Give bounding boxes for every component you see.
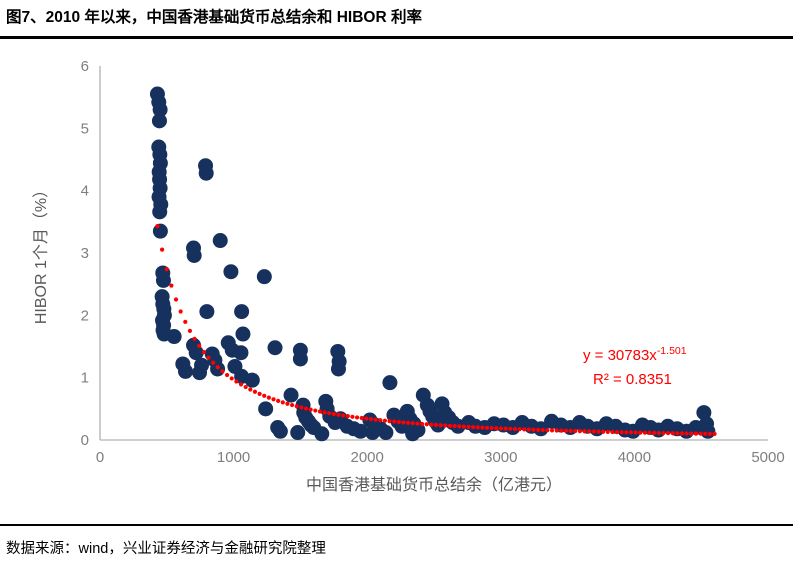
trendline-dot [267, 396, 271, 400]
x-tick-label: 3000 [484, 449, 517, 466]
trendline-dot [522, 427, 526, 431]
trendline-dot [341, 413, 345, 417]
scatter-point [227, 359, 242, 374]
trendline-dot [401, 420, 405, 424]
scatter-point [314, 426, 329, 441]
trendline-dot [188, 329, 192, 333]
trendline-dot [378, 418, 382, 422]
trendline-dot [387, 419, 391, 423]
trendline-dot [295, 404, 299, 408]
trendline-dot [531, 428, 535, 432]
trendline-dot [480, 425, 484, 429]
trendline-dot [234, 379, 238, 383]
trendline-dot [336, 413, 340, 417]
trendline-dot [239, 382, 243, 386]
scatter-point [284, 388, 299, 403]
scatter-point [235, 327, 250, 342]
trendline-dot [620, 430, 624, 434]
trendline-dot [647, 431, 651, 435]
scatter-point [331, 361, 346, 376]
trendline-dot [564, 429, 568, 433]
trendline-dot [466, 425, 470, 429]
trendline-dot [318, 409, 322, 413]
scatter-point [192, 365, 207, 380]
trendline-dot [499, 426, 503, 430]
trendline-dot [434, 423, 438, 427]
trendline-dot [712, 432, 716, 436]
trendline-dot [610, 430, 614, 434]
trendline-dot [290, 403, 294, 407]
scatter-point [167, 329, 182, 344]
trendline-dot [174, 297, 178, 301]
trendline-dot [559, 429, 563, 433]
scatter-point [257, 269, 272, 284]
trendline-dot [643, 431, 647, 435]
trendline-dot [657, 431, 661, 435]
y-tick-label: 3 [81, 245, 89, 262]
scatter-point [223, 264, 238, 279]
trendline-dot [517, 427, 521, 431]
x-tick-label: 0 [96, 449, 104, 466]
trendline-dot [550, 428, 554, 432]
y-tick-label: 5 [81, 120, 89, 137]
trendline-dot [262, 394, 266, 398]
trendline-dot [601, 430, 605, 434]
trendline-dot [606, 430, 610, 434]
scatter-point [152, 113, 167, 128]
scatter-point [245, 373, 260, 388]
trendline-dot [587, 429, 591, 433]
trendline-dot [197, 344, 201, 348]
y-tick-label: 2 [81, 307, 89, 324]
trendline-dot [634, 430, 638, 434]
scatter-point [234, 304, 249, 319]
trendline-equation: y = 30783x-1.501 [583, 345, 687, 364]
trendline-dot [661, 431, 665, 435]
chart-svg: 0123456 010002000300040005000 中国香港基础货币总结… [0, 42, 793, 522]
trendline-dot [313, 408, 317, 412]
trendline-r-squared: R² = 0.8351 [593, 371, 672, 388]
scatter-point [152, 204, 167, 219]
figure-title-bar: 图7、2010 年以来，中国香港基础货币总结余和 HIBOR 利率 [0, 0, 793, 39]
trendline-dot [638, 431, 642, 435]
trendline-dot [689, 431, 693, 435]
trendline-dot [299, 405, 303, 409]
y-tick-label: 4 [81, 183, 89, 200]
trendline-dot [671, 431, 675, 435]
trendline-dot [596, 430, 600, 434]
trendline-dot [703, 432, 707, 436]
trendline-dot [360, 416, 364, 420]
trendline-dot [508, 427, 512, 431]
trendline-dot [415, 421, 419, 425]
trendline-dot [462, 425, 466, 429]
trendline-dot [452, 424, 456, 428]
trendline-dot [169, 283, 173, 287]
scatter-point [293, 351, 308, 366]
trendline-dot [675, 431, 679, 435]
trendline-dot [429, 422, 433, 426]
trendline-dot [476, 425, 480, 429]
page-title: 图7、2010 年以来，中国香港基础货币总结余和 HIBOR 利率 [0, 9, 422, 26]
trendline-dot [383, 419, 387, 423]
trendline-dot [569, 429, 573, 433]
trendline-dot [448, 424, 452, 428]
trendline-dot [369, 417, 373, 421]
trendline-dot [471, 425, 475, 429]
trendline-dot [629, 430, 633, 434]
scatter-point [178, 364, 193, 379]
trendline-dot [211, 361, 215, 365]
source-note: 数据来源：wind，兴业证券经济与金融研究院整理 [0, 526, 326, 558]
trendline-dot [206, 356, 210, 360]
trendline-dot [699, 432, 703, 436]
trendline-dot [160, 248, 164, 252]
trendline-dot [406, 421, 410, 425]
trendline-dot [592, 429, 596, 433]
trendline-dot [545, 428, 549, 432]
scatter-point [273, 424, 288, 439]
trendline-dot [443, 423, 447, 427]
scatter-point [290, 425, 305, 440]
scatter-point [365, 425, 380, 440]
trendline-dot [555, 428, 559, 432]
trendline-dot [680, 431, 684, 435]
trendline-dot [582, 429, 586, 433]
trendline-dot [309, 407, 313, 411]
trendline-dot [327, 411, 331, 415]
x-tick-label: 4000 [618, 449, 651, 466]
scatter-point [199, 304, 214, 319]
y-tick-label: 0 [81, 432, 89, 449]
scatter-point [405, 426, 420, 441]
scatter-point [199, 166, 214, 181]
trendline-dot [504, 427, 508, 431]
trendline-dot [183, 320, 187, 324]
trendline-dot [285, 402, 289, 406]
trendline-dot [536, 428, 540, 432]
trendline-dot [281, 400, 285, 404]
trendline-dot [304, 406, 308, 410]
y-tick-label: 6 [81, 58, 89, 75]
scatter-point [258, 401, 273, 416]
trendline-dot [624, 430, 628, 434]
scatter-chart: 0123456 010002000300040005000 中国香港基础货币总结… [0, 42, 793, 522]
x-tick-label: 5000 [751, 449, 784, 466]
trendline-dot [364, 417, 368, 421]
trendline-dot [578, 429, 582, 433]
x-tick-label: 2000 [351, 449, 384, 466]
y-axis-tick-labels: 0123456 [81, 58, 89, 449]
trendline-dot [708, 432, 712, 436]
x-tick-label: 1000 [217, 449, 250, 466]
trendline-dot [355, 415, 359, 419]
trendline-dot [257, 392, 261, 396]
trendline-dot [271, 397, 275, 401]
trendline-dot [425, 422, 429, 426]
scatter-point [187, 248, 202, 263]
x-axis-tick-labels: 010002000300040005000 [96, 449, 785, 466]
trendline-dot [685, 431, 689, 435]
scatter-point [213, 233, 228, 248]
trendline-dot [411, 421, 415, 425]
trendline-dot [220, 369, 224, 373]
scatter-point [268, 340, 283, 355]
trendline-dot [457, 424, 461, 428]
trendline-dot [244, 385, 248, 389]
scatter-point [225, 343, 240, 358]
trendline-dot [513, 427, 517, 431]
trendline-dot [485, 426, 489, 430]
scatter-point [153, 224, 168, 239]
trendline-dot [216, 365, 220, 369]
trendline-dot [230, 376, 234, 380]
figure-source-bar: 数据来源：wind，兴业证券经济与金融研究院整理 [0, 524, 793, 577]
trendline-dot [332, 412, 336, 416]
trendline-dot [192, 337, 196, 341]
trendline-dot [573, 429, 577, 433]
trendline-dot [350, 415, 354, 419]
trendline-dot [248, 387, 252, 391]
trendline-dot [666, 431, 670, 435]
y-axis-title: HIBOR 1个月（%） [32, 182, 50, 324]
scatter-point [700, 424, 715, 439]
trendline-dot [494, 426, 498, 430]
trendline-dot [652, 431, 656, 435]
trendline-dot [202, 350, 206, 354]
trendline-equation-base: y = 30783x [583, 347, 657, 364]
y-tick-label: 1 [81, 370, 89, 387]
trendline-dot [179, 309, 183, 313]
trendline-dot [420, 422, 424, 426]
trendline-dot [392, 419, 396, 423]
trendline-dot [439, 423, 443, 427]
trendline-dot [322, 410, 326, 414]
trendline-dot [276, 399, 280, 403]
trendline-dot [615, 430, 619, 434]
scatter-point [382, 375, 397, 390]
scatter-point-group [150, 87, 715, 442]
figure-container: 图7、2010 年以来，中国香港基础货币总结余和 HIBOR 利率 012345… [0, 0, 793, 577]
trendline-equation-exponent: -1.501 [657, 345, 687, 357]
trendline-dot [541, 428, 545, 432]
scatter-point [156, 273, 171, 288]
trendline-dot [165, 267, 169, 271]
trendline-dot [397, 420, 401, 424]
x-axis-title: 中国香港基础货币总结余（亿港元） [306, 475, 562, 494]
trendline-dot [155, 224, 159, 228]
trendline-dot [374, 418, 378, 422]
trendline-dot [490, 426, 494, 430]
trendline-dot [225, 373, 229, 377]
trendline-dot [527, 427, 531, 431]
trendline-dot [346, 414, 350, 418]
scatter-point [378, 425, 393, 440]
trendline-dot [694, 432, 698, 436]
trendline-dot [253, 390, 257, 394]
